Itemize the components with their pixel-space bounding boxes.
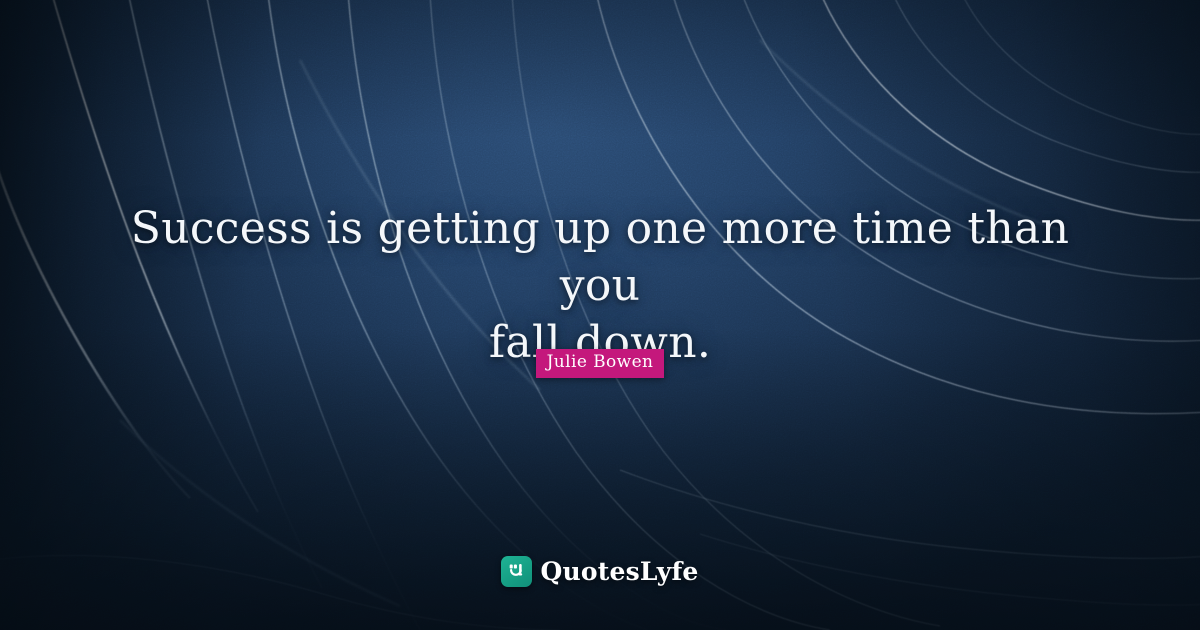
quote-text: Success is getting up one more time than…	[120, 200, 1080, 372]
card-content: Success is getting up one more time than…	[0, 0, 1200, 630]
quote-line-1: Success is getting up one more time than…	[120, 200, 1080, 314]
author-badge[interactable]: Julie Bowen	[536, 349, 665, 378]
brand-name: QuotesLyfe	[540, 557, 698, 586]
brand-logo[interactable]: QuotesLyfe	[0, 556, 1200, 587]
quote-card: Success is getting up one more time than…	[0, 0, 1200, 630]
quote-marks-icon	[501, 556, 532, 587]
author-wrap: Julie Bowen	[0, 349, 1200, 378]
quote-block: Success is getting up one more time than…	[0, 200, 1200, 372]
